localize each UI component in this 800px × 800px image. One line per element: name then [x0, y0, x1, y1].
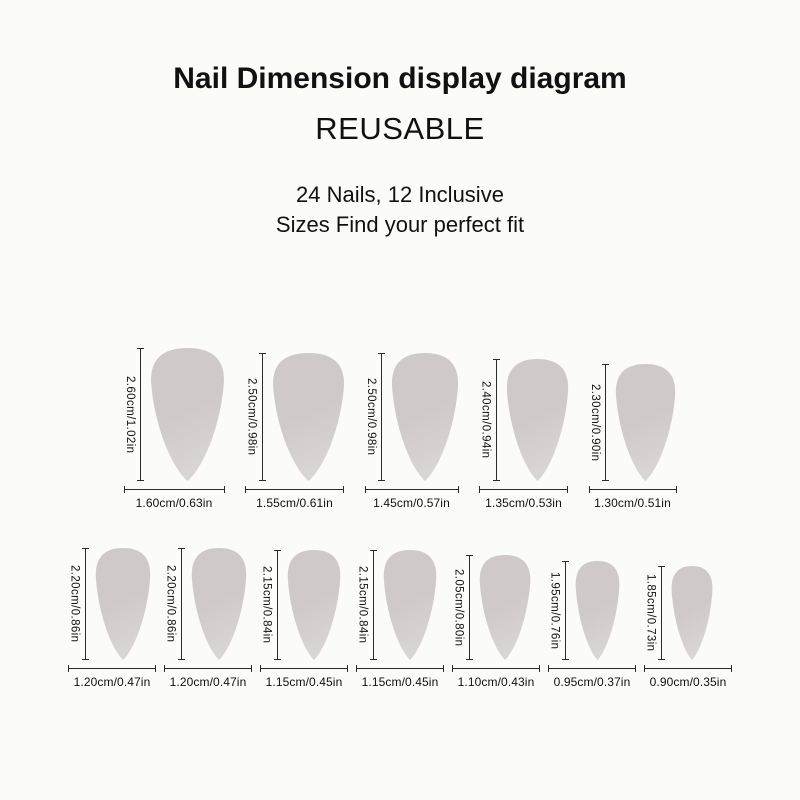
width-dimension-line [356, 665, 444, 672]
width-label: 1.15cm/0.45in [266, 675, 343, 689]
nail-measure-group: 2.20cm/0.86in [164, 548, 247, 660]
nail-size-item: 1.85cm/0.73in0.90cm/0.35in [644, 566, 732, 689]
dimension-tick-icon [458, 486, 459, 493]
width-dimension: 1.30cm/0.51in [589, 486, 677, 510]
dimension-tick-icon [466, 659, 473, 660]
width-label: 0.95cm/0.37in [554, 675, 631, 689]
dimension-tick-icon [82, 659, 89, 660]
dimension-tick-icon [259, 480, 266, 481]
nail-row-2: 2.20cm/0.86in1.20cm/0.47in2.20cm/0.86in1… [0, 548, 800, 689]
dimension-tick-icon [137, 480, 144, 481]
height-label: 1.85cm/0.73in [644, 566, 658, 660]
width-dimension-line [479, 486, 568, 493]
height-dimension: 2.20cm/0.86in [68, 548, 89, 660]
dimension-tick-icon [589, 486, 590, 493]
width-dimension: 1.15cm/0.45in [356, 665, 444, 689]
dimension-tick-icon [356, 665, 357, 672]
nail-size-item: 2.50cm/0.98in1.55cm/0.61in [245, 353, 345, 510]
nail-size-item: 2.40cm/0.94in1.35cm/0.53in [479, 359, 569, 510]
width-dimension-line [644, 665, 732, 672]
width-dimension: 1.45cm/0.57in [365, 486, 459, 510]
nail-measure-group: 1.95cm/0.76in [548, 561, 620, 660]
width-dimension: 1.60cm/0.63in [124, 486, 225, 510]
dimension-tick-icon [378, 353, 385, 354]
width-label: 1.55cm/0.61in [256, 496, 333, 510]
nail-size-item: 2.50cm/0.98in1.45cm/0.57in [365, 353, 460, 510]
height-label: 1.95cm/0.76in [548, 561, 562, 660]
nail-size-item: 2.60cm/1.02in1.60cm/0.63in [124, 348, 226, 510]
width-label: 1.60cm/0.63in [136, 496, 213, 510]
dimension-tick-icon [137, 348, 144, 349]
nail-shape [383, 550, 437, 660]
height-dimension-line [178, 548, 185, 660]
dimension-tick-icon [370, 550, 377, 551]
dimension-tick-icon [378, 480, 385, 481]
dimension-tick-icon [274, 550, 281, 551]
width-dimension-line [124, 486, 225, 493]
height-dimension-line [562, 561, 569, 660]
subtitle-reusable: REUSABLE [0, 111, 800, 147]
nail-shape [506, 359, 569, 481]
dimension-tick-icon [259, 353, 266, 354]
width-dimension: 1.10cm/0.43in [452, 665, 540, 689]
height-label: 2.05cm/0.80in [452, 555, 466, 660]
height-label: 2.30cm/0.90in [589, 364, 603, 481]
height-dimension: 2.05cm/0.80in [452, 555, 473, 660]
dimension-tick-icon [676, 486, 677, 493]
height-dimension: 2.40cm/0.94in [479, 359, 500, 481]
height-label: 2.60cm/1.02in [124, 348, 138, 481]
height-dimension-line [259, 353, 266, 481]
height-dimension-line [274, 550, 281, 660]
nail-measure-group: 2.60cm/1.02in [124, 348, 226, 481]
width-label: 1.10cm/0.43in [458, 675, 535, 689]
nail-measure-group: 2.50cm/0.98in [365, 353, 460, 481]
width-dimension-line [589, 486, 677, 493]
nail-shape [575, 561, 620, 660]
width-dimension-line [548, 665, 636, 672]
width-label: 1.30cm/0.51in [594, 496, 671, 510]
dimension-tick-icon [178, 548, 185, 549]
height-label: 2.15cm/0.84in [260, 550, 274, 660]
width-dimension: 0.90cm/0.35in [644, 665, 732, 689]
dimension-tick-icon [124, 486, 125, 493]
dimension-tick-icon [347, 665, 348, 672]
nail-measure-group: 1.85cm/0.73in [644, 566, 713, 660]
dimension-tick-icon [493, 359, 500, 360]
width-dimension: 1.15cm/0.45in [260, 665, 348, 689]
width-dimension: 1.20cm/0.47in [68, 665, 156, 689]
height-label: 2.20cm/0.86in [68, 548, 82, 660]
nail-row-1: 2.60cm/1.02in1.60cm/0.63in2.50cm/0.98in1… [0, 348, 800, 510]
height-dimension-line [602, 364, 609, 481]
width-dimension: 0.95cm/0.37in [548, 665, 636, 689]
dimension-tick-icon [82, 548, 89, 549]
nail-size-item: 2.15cm/0.84in1.15cm/0.45in [356, 550, 444, 689]
dimension-tick-icon [178, 659, 185, 660]
tagline-line-1: 24 Nails, 12 Inclusive [0, 180, 800, 210]
dimension-tick-icon [260, 665, 261, 672]
height-dimension: 2.20cm/0.86in [164, 548, 185, 660]
height-dimension: 2.50cm/0.98in [365, 353, 386, 481]
height-dimension: 1.95cm/0.76in [548, 561, 569, 660]
height-dimension-line [370, 550, 377, 660]
nail-shape [391, 353, 459, 481]
nail-size-item: 2.20cm/0.86in1.20cm/0.47in [164, 548, 252, 689]
nail-shape [191, 548, 247, 660]
dimension-tick-icon [343, 486, 344, 493]
dimension-tick-icon [567, 486, 568, 493]
height-dimension-line [82, 548, 89, 660]
width-label: 1.20cm/0.47in [74, 675, 151, 689]
width-dimension-line [164, 665, 252, 672]
dimension-tick-icon [68, 665, 69, 672]
nail-shape [287, 550, 341, 660]
dimension-tick-icon [466, 555, 473, 556]
dimension-tick-icon [539, 665, 540, 672]
height-label: 2.50cm/0.98in [245, 353, 259, 481]
dimension-tick-icon [443, 665, 444, 672]
width-dimension-line [365, 486, 459, 493]
nail-shape [150, 348, 225, 481]
dimension-tick-icon [658, 659, 665, 660]
width-label: 0.90cm/0.35in [650, 675, 727, 689]
dimension-tick-icon [274, 659, 281, 660]
height-dimension-line [137, 348, 144, 481]
nail-shape [671, 566, 713, 660]
width-dimension-line [245, 486, 344, 493]
height-label: 2.20cm/0.86in [164, 548, 178, 660]
width-dimension-line [452, 665, 540, 672]
width-dimension: 1.35cm/0.53in [479, 486, 568, 510]
height-dimension: 2.15cm/0.84in [356, 550, 377, 660]
width-label: 1.20cm/0.47in [170, 675, 247, 689]
height-dimension: 2.15cm/0.84in [260, 550, 281, 660]
width-dimension-line [68, 665, 156, 672]
tagline: 24 Nails, 12 Inclusive Sizes Find your p… [0, 180, 800, 239]
dimension-tick-icon [224, 486, 225, 493]
height-dimension: 1.85cm/0.73in [644, 566, 665, 660]
height-dimension: 2.60cm/1.02in [124, 348, 145, 481]
height-label: 2.50cm/0.98in [365, 353, 379, 481]
dimension-tick-icon [548, 665, 549, 672]
height-dimension-line [493, 359, 500, 481]
height-dimension-line [658, 566, 665, 660]
nail-measure-group: 2.05cm/0.80in [452, 555, 531, 660]
dimension-tick-icon [562, 659, 569, 660]
height-label: 2.15cm/0.84in [356, 550, 370, 660]
nail-size-item: 2.15cm/0.84in1.15cm/0.45in [260, 550, 348, 689]
width-label: 1.45cm/0.57in [373, 496, 450, 510]
dimension-tick-icon [452, 665, 453, 672]
width-dimension: 1.55cm/0.61in [245, 486, 344, 510]
dimension-tick-icon [365, 486, 366, 493]
nail-size-item: 1.95cm/0.76in0.95cm/0.37in [548, 561, 636, 689]
dimension-tick-icon [155, 665, 156, 672]
dimension-tick-icon [245, 486, 246, 493]
nail-shape [95, 548, 151, 660]
nail-size-item: 2.30cm/0.90in1.30cm/0.51in [589, 364, 677, 510]
nail-shape [272, 353, 345, 481]
nail-size-chart: 2.60cm/1.02in1.60cm/0.63in2.50cm/0.98in1… [0, 348, 800, 689]
height-dimension: 2.30cm/0.90in [589, 364, 610, 481]
dimension-tick-icon [562, 561, 569, 562]
width-label: 1.15cm/0.45in [362, 675, 439, 689]
dimension-tick-icon [602, 364, 609, 365]
dimension-tick-icon [635, 665, 636, 672]
nail-size-item: 2.20cm/0.86in1.20cm/0.47in [68, 548, 156, 689]
width-dimension: 1.20cm/0.47in [164, 665, 252, 689]
nail-measure-group: 2.50cm/0.98in [245, 353, 345, 481]
height-dimension: 2.50cm/0.98in [245, 353, 266, 481]
header: Nail Dimension display diagram REUSABLE … [0, 0, 800, 240]
height-dimension-line [378, 353, 385, 481]
dimension-tick-icon [479, 486, 480, 493]
nail-measure-group: 2.15cm/0.84in [356, 550, 437, 660]
nail-size-item: 2.05cm/0.80in1.10cm/0.43in [452, 555, 540, 689]
page-title: Nail Dimension display diagram [0, 62, 800, 97]
dimension-tick-icon [658, 566, 665, 567]
dimension-tick-icon [602, 480, 609, 481]
nail-shape [615, 364, 676, 481]
dimension-tick-icon [493, 480, 500, 481]
nail-measure-group: 2.30cm/0.90in [589, 364, 677, 481]
dimension-tick-icon [164, 665, 165, 672]
nail-measure-group: 2.40cm/0.94in [479, 359, 569, 481]
dimension-tick-icon [644, 665, 645, 672]
nail-shape [479, 555, 531, 660]
nail-measure-group: 2.15cm/0.84in [260, 550, 341, 660]
dimension-tick-icon [370, 659, 377, 660]
width-label: 1.35cm/0.53in [485, 496, 562, 510]
tagline-line-2: Sizes Find your perfect fit [0, 210, 800, 240]
dimension-tick-icon [731, 665, 732, 672]
nail-measure-group: 2.20cm/0.86in [68, 548, 151, 660]
height-dimension-line [466, 555, 473, 660]
height-label: 2.40cm/0.94in [479, 359, 493, 481]
dimension-tick-icon [251, 665, 252, 672]
width-dimension-line [260, 665, 348, 672]
